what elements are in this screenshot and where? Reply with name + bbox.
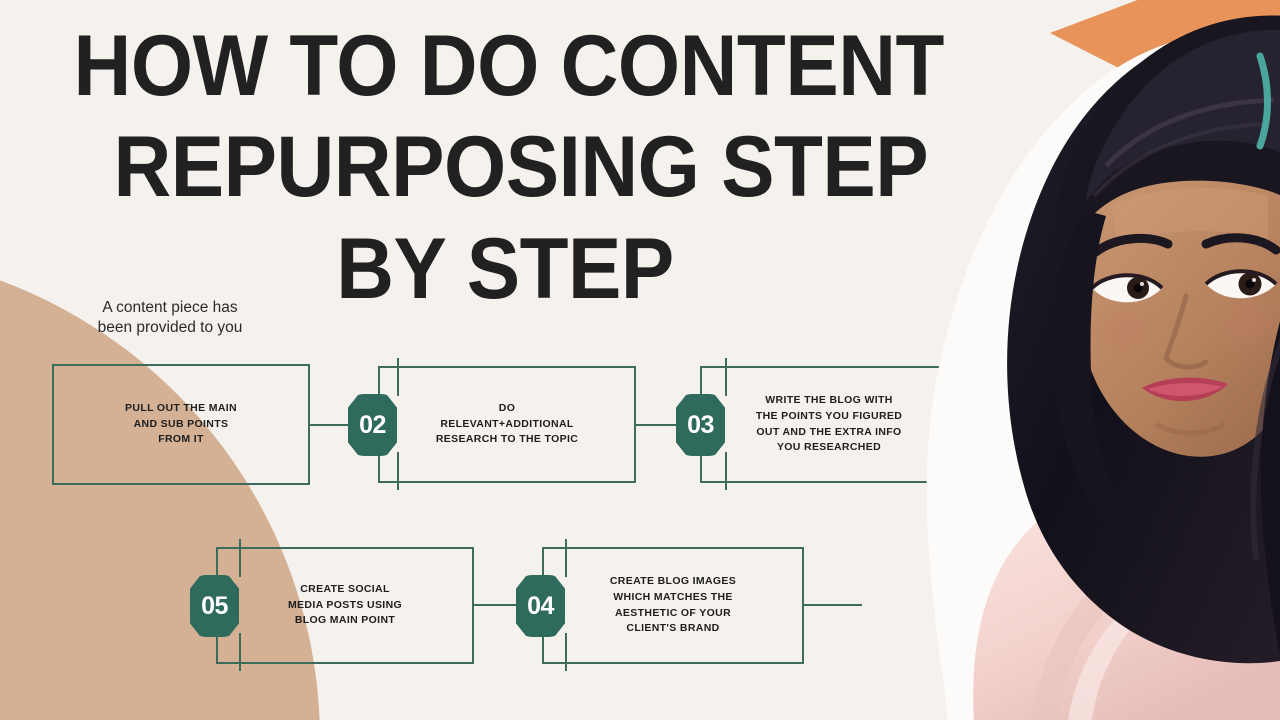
connector-box4-to-badge05 (474, 604, 518, 606)
presenter-photo-illustration (856, 0, 1280, 720)
step-box-1: PULL OUT THE MAINAND SUB POINTSFROM IT (52, 364, 310, 485)
step-box-4-label: CREATE BLOG IMAGESWHICH MATCHES THEAESTH… (604, 574, 742, 637)
step-box-5-label: CREATE SOCIALMEDIA POSTS USINGBLOG MAIN … (282, 582, 408, 629)
title-line-2: REPURPOSING STEP (35, 117, 974, 218)
step-badge-04: 04 (516, 575, 565, 637)
connector-box2-to-badge03 (636, 424, 678, 426)
presenter-photo (856, 0, 1280, 720)
step-badge-02: 02 (348, 394, 397, 456)
title-line-1: HOW TO DO CONTENT (35, 16, 974, 117)
connector-box1-to-badge02 (310, 424, 350, 426)
step-badge-05: 05 (190, 575, 239, 637)
step-box-5: CREATE SOCIALMEDIA POSTS USINGBLOG MAIN … (216, 547, 474, 664)
connector-box4-to-right (804, 604, 862, 606)
step-box-2-label: DORELEVANT+ADDITIONALRESEARCH TO THE TOP… (430, 401, 584, 448)
step-badge-03: 03 (676, 394, 725, 456)
title-line-3: BY STEP (35, 219, 974, 320)
thumbnail-canvas: HOW TO DO CONTENT REPURPOSING STEP BY ST… (0, 0, 1280, 720)
step-box-4: CREATE BLOG IMAGESWHICH MATCHES THEAESTH… (542, 547, 804, 664)
step-box-2: DORELEVANT+ADDITIONALRESEARCH TO THE TOP… (378, 366, 636, 483)
step-box-1-label: PULL OUT THE MAINAND SUB POINTSFROM IT (119, 401, 243, 448)
page-title: HOW TO DO CONTENT REPURPOSING STEP BY ST… (35, 16, 974, 320)
